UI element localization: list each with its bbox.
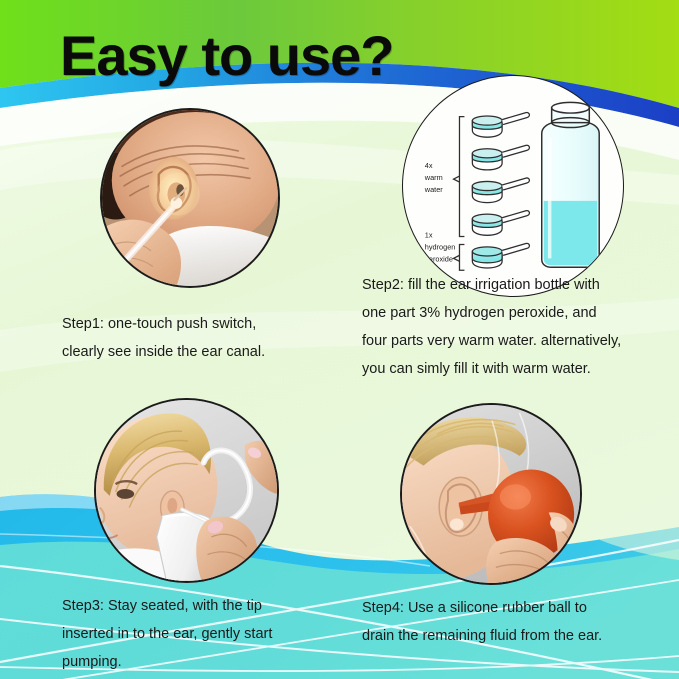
label-peroxide-line1: hydrogen	[425, 242, 456, 251]
step2-caption-line-1: Step2: fill the ear irrigation bottle wi…	[362, 271, 621, 299]
label-peroxide-line2: peroxide	[425, 254, 453, 263]
step1-caption-line-2: clearly see inside the ear canal.	[62, 338, 265, 366]
step2-caption-line-4: you can simly fill it with warm water.	[362, 355, 621, 383]
step4-caption-line-1: Step4: Use a silicone rubber ball to	[362, 594, 602, 622]
step3-caption-line-3: pumping.	[62, 648, 272, 676]
irrigation-bottle	[542, 102, 599, 267]
label-water-count: 4x	[425, 161, 433, 170]
step4-caption: Step4: Use a silicone rubber ball to dra…	[362, 594, 602, 650]
girl-ear-irrigation-photo	[96, 400, 277, 581]
step2-caption: Step2: fill the ear irrigation bottle wi…	[362, 271, 621, 383]
step4-photo-circle	[400, 403, 582, 585]
step1-photo-circle	[100, 108, 280, 288]
step1-caption: Step1: one-touch push switch, clearly se…	[62, 310, 265, 366]
step2-caption-line-2: one part 3% hydrogen peroxide, and	[362, 299, 621, 327]
baby-ear-cleaning-photo	[102, 110, 278, 286]
step3-caption: Step3: Stay seated, with the tip inserte…	[62, 592, 272, 676]
page-title: Easy to use?	[60, 28, 393, 84]
step3-caption-line-1: Step3: Stay seated, with the tip	[62, 592, 272, 620]
poster-root: Easy to use?	[0, 0, 679, 679]
step4-caption-line-2: drain the remaining fluid from the ear.	[362, 622, 602, 650]
rubber-bulb-drain-photo	[402, 405, 580, 583]
label-peroxide-count: 1x	[425, 231, 433, 240]
step2-diagram-circle: 4x warm water 1x hydrogen peroxide	[402, 75, 624, 297]
step2-caption-line-3: four parts very warm water. alternativel…	[362, 327, 621, 355]
mixing-ratio-diagram: 4x warm water 1x hydrogen peroxide	[403, 76, 623, 296]
label-water-line1: warm	[424, 173, 443, 182]
label-water-line2: water	[424, 185, 443, 194]
step3-photo-circle	[94, 398, 279, 583]
step3-caption-line-2: inserted in to the ear, gently start	[62, 620, 272, 648]
step1-caption-line-1: Step1: one-touch push switch,	[62, 310, 265, 338]
